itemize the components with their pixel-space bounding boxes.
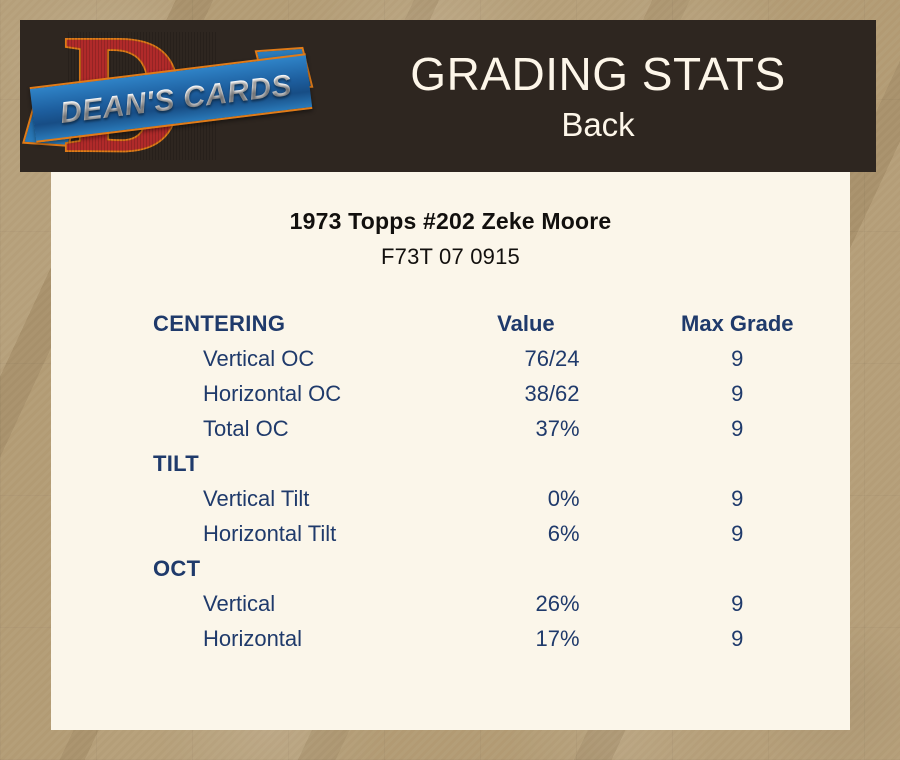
table-head: CENTERING Value Max Grade bbox=[51, 306, 850, 341]
stat-value: 17% bbox=[441, 621, 626, 656]
table-header-row: CENTERING Value Max Grade bbox=[51, 306, 850, 341]
deans-cards-logo[interactable]: D DEAN'S CARDS bbox=[42, 22, 312, 170]
stat-label: Vertical OC bbox=[51, 341, 441, 376]
column-header-value: Value bbox=[441, 306, 626, 341]
stat-max-grade: 9 bbox=[627, 516, 850, 551]
stat-max-grade: 9 bbox=[627, 621, 850, 656]
stat-label: Horizontal Tilt bbox=[51, 516, 441, 551]
grading-stats-table: CENTERING Value Max Grade Vertical OC76/… bbox=[51, 306, 850, 656]
stat-value: 26% bbox=[441, 586, 626, 621]
section-name: TILT bbox=[51, 446, 441, 481]
stat-value: 38/62 bbox=[441, 376, 626, 411]
table-row: Vertical Tilt0%9 bbox=[51, 481, 850, 516]
card-serial-number: F73T 07 0915 bbox=[51, 244, 850, 270]
header-bar: D DEAN'S CARDS GRADING STATS Back bbox=[20, 20, 876, 172]
table-body: Vertical OC76/249Horizontal OC38/629Tota… bbox=[51, 341, 850, 656]
card-title: 1973 Topps #202 Zeke Moore bbox=[51, 208, 850, 235]
table-row: Horizontal Tilt6%9 bbox=[51, 516, 850, 551]
content-panel: 1973 Topps #202 Zeke Moore F73T 07 0915 … bbox=[51, 172, 850, 730]
empty-cell bbox=[627, 446, 850, 481]
section-header-row: TILT bbox=[51, 446, 850, 481]
stat-value: 76/24 bbox=[441, 341, 626, 376]
table-row: Horizontal17%9 bbox=[51, 621, 850, 656]
stat-max-grade: 9 bbox=[627, 411, 850, 446]
stat-max-grade: 9 bbox=[627, 341, 850, 376]
section-header-row: OCT bbox=[51, 551, 850, 586]
empty-cell bbox=[441, 446, 626, 481]
header-title-block: GRADING STATS Back bbox=[320, 20, 876, 172]
empty-cell bbox=[441, 551, 626, 586]
stat-value: 37% bbox=[441, 411, 626, 446]
stat-max-grade: 9 bbox=[627, 376, 850, 411]
table-row: Horizontal OC38/629 bbox=[51, 376, 850, 411]
column-header-section: CENTERING bbox=[51, 306, 441, 341]
empty-cell bbox=[627, 551, 850, 586]
page-subtitle: Back bbox=[561, 105, 634, 145]
stat-max-grade: 9 bbox=[627, 586, 850, 621]
stat-label: Vertical bbox=[51, 586, 441, 621]
stat-label: Vertical Tilt bbox=[51, 481, 441, 516]
table-row: Vertical26%9 bbox=[51, 586, 850, 621]
stat-value: 6% bbox=[441, 516, 626, 551]
stat-label: Horizontal bbox=[51, 621, 441, 656]
page-title: GRADING STATS bbox=[410, 47, 785, 101]
column-header-max-grade: Max Grade bbox=[627, 306, 850, 341]
table-row: Vertical OC76/249 bbox=[51, 341, 850, 376]
stat-max-grade: 9 bbox=[627, 481, 850, 516]
stat-label: Horizontal OC bbox=[51, 376, 441, 411]
stat-label: Total OC bbox=[51, 411, 441, 446]
table-row: Total OC37%9 bbox=[51, 411, 850, 446]
stat-value: 0% bbox=[441, 481, 626, 516]
section-name: OCT bbox=[51, 551, 441, 586]
